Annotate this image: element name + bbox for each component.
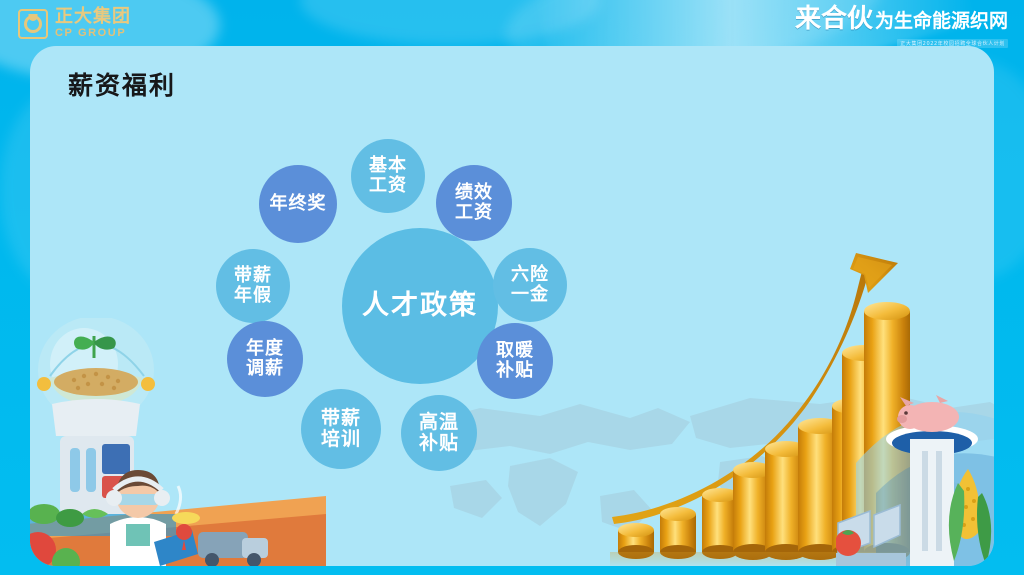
bubble-paid-annual-leave[interactable]: 带薪 年假: [216, 249, 290, 323]
bubble-label: 取暖 补贴: [496, 341, 534, 381]
brand-name-cn: 正大集团: [55, 8, 131, 26]
bubble-label: 绩效 工资: [455, 183, 493, 223]
bar-3: [702, 488, 738, 559]
bubble-label: 带薪 培训: [321, 408, 361, 451]
bubble-high-temp-allowance[interactable]: 高温 补贴: [401, 395, 477, 471]
campaign-slogan: 为生命能源织网: [875, 12, 1008, 32]
agriculture-lab-illustration: [30, 318, 326, 566]
bar-2: [660, 507, 696, 559]
bubble-label: 六险 一金: [511, 265, 549, 305]
bubble-center-label: 人才政策: [362, 291, 478, 321]
bubble-label: 带薪 年假: [234, 266, 272, 306]
brand-logo-right: 来合伙 为生命能源织网 正大集团2022年校园招聘全球合伙人计划: [795, 6, 1008, 50]
bubble-label: 高温 补贴: [419, 412, 459, 455]
content-card: 薪资福利 人才政策 基本 工资: [30, 46, 994, 566]
campaign-title: 来合伙: [795, 6, 873, 32]
slide-root: 正大集团 CP GROUP 来合伙 为生命能源织网 正大集团2022年校园招聘全…: [0, 0, 1024, 575]
bubble-performance-pay[interactable]: 绩效 工资: [436, 165, 512, 241]
bubble-label: 基本 工资: [369, 156, 407, 196]
bubble-label: 年终奖: [270, 194, 327, 214]
bubble-center-talent-policy[interactable]: 人才政策: [342, 228, 498, 384]
cp-group-logo-icon: [18, 9, 48, 39]
brand-name-en: CP GROUP: [55, 28, 131, 39]
bubble-base-salary[interactable]: 基本 工资: [351, 139, 425, 213]
brand-logo-left: 正大集团 CP GROUP: [18, 8, 131, 39]
livestock-farm-illustration: [836, 373, 994, 566]
bubble-six-insurances-one-fund[interactable]: 六险 一金: [493, 248, 567, 322]
bubble-year-end-bonus[interactable]: 年终奖: [259, 165, 337, 243]
bubble-heating-allowance[interactable]: 取暖 补贴: [477, 323, 553, 399]
